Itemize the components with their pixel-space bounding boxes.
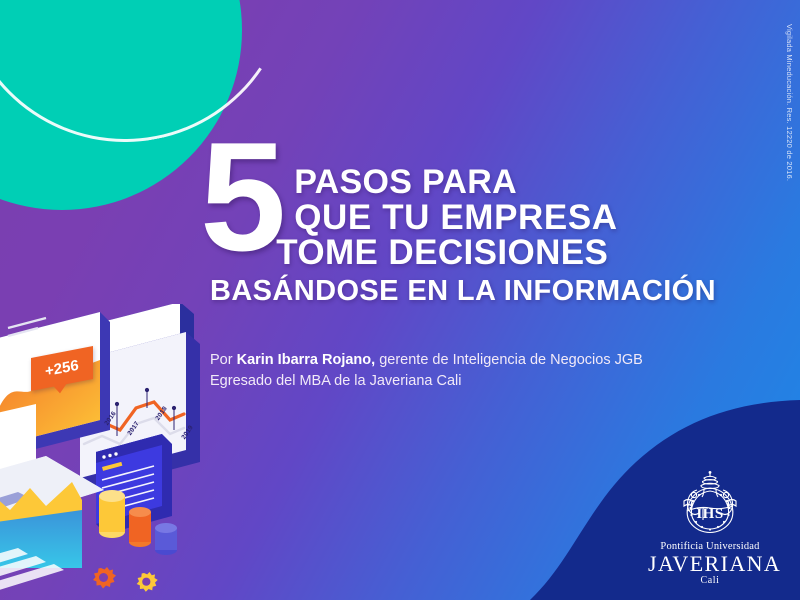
gear-icon-orange: [93, 567, 116, 589]
headline-number: 5: [200, 137, 280, 258]
university-logo: IHS Pontificia Universidad JAVERIANA Cal…: [648, 470, 772, 586]
accreditation-note: Vigilada Mineducación. Res. 12220 de 201…: [785, 24, 794, 181]
headline-subline: BASÁNDOSE EN LA INFORMACIÓN: [210, 275, 720, 308]
byline-author: Karin Ibarra Rojano,: [237, 352, 376, 368]
poster-canvas: Vigilada Mineducación. Res. 12220 de 201…: [0, 0, 800, 600]
gear-icon-yellow: [137, 572, 158, 592]
logo-line-bottom: Cali: [648, 575, 772, 586]
headline-block: 5 PASOS PARA QUE TU EMPRESA TOME DECISIO…: [200, 143, 720, 308]
byline-line-1: Por Karin Ibarra Rojano, gerente de Inte…: [210, 350, 730, 371]
headline-line-2: QUE TU EMPRESA: [294, 200, 617, 236]
headline-line-3: TOME DECISIONES: [276, 235, 617, 271]
logo-line-mid: JAVERIANA: [648, 552, 772, 575]
headline-line-1: PASOS PARA: [294, 165, 617, 200]
byline-prefix: Por: [210, 352, 237, 368]
byline-line-2: Egresado del MBA de la Javeriana Cali: [210, 371, 730, 392]
byline-block: Por Karin Ibarra Rojano, gerente de Inte…: [210, 350, 730, 391]
metric-badge-value: +256: [44, 357, 79, 380]
crest-monogram: IHS: [696, 506, 723, 522]
byline-role: gerente de Inteligencia de Negocios JGB: [375, 352, 643, 368]
javeriana-crest-icon: IHS: [673, 470, 747, 540]
isometric-data-illustration: [0, 304, 244, 600]
